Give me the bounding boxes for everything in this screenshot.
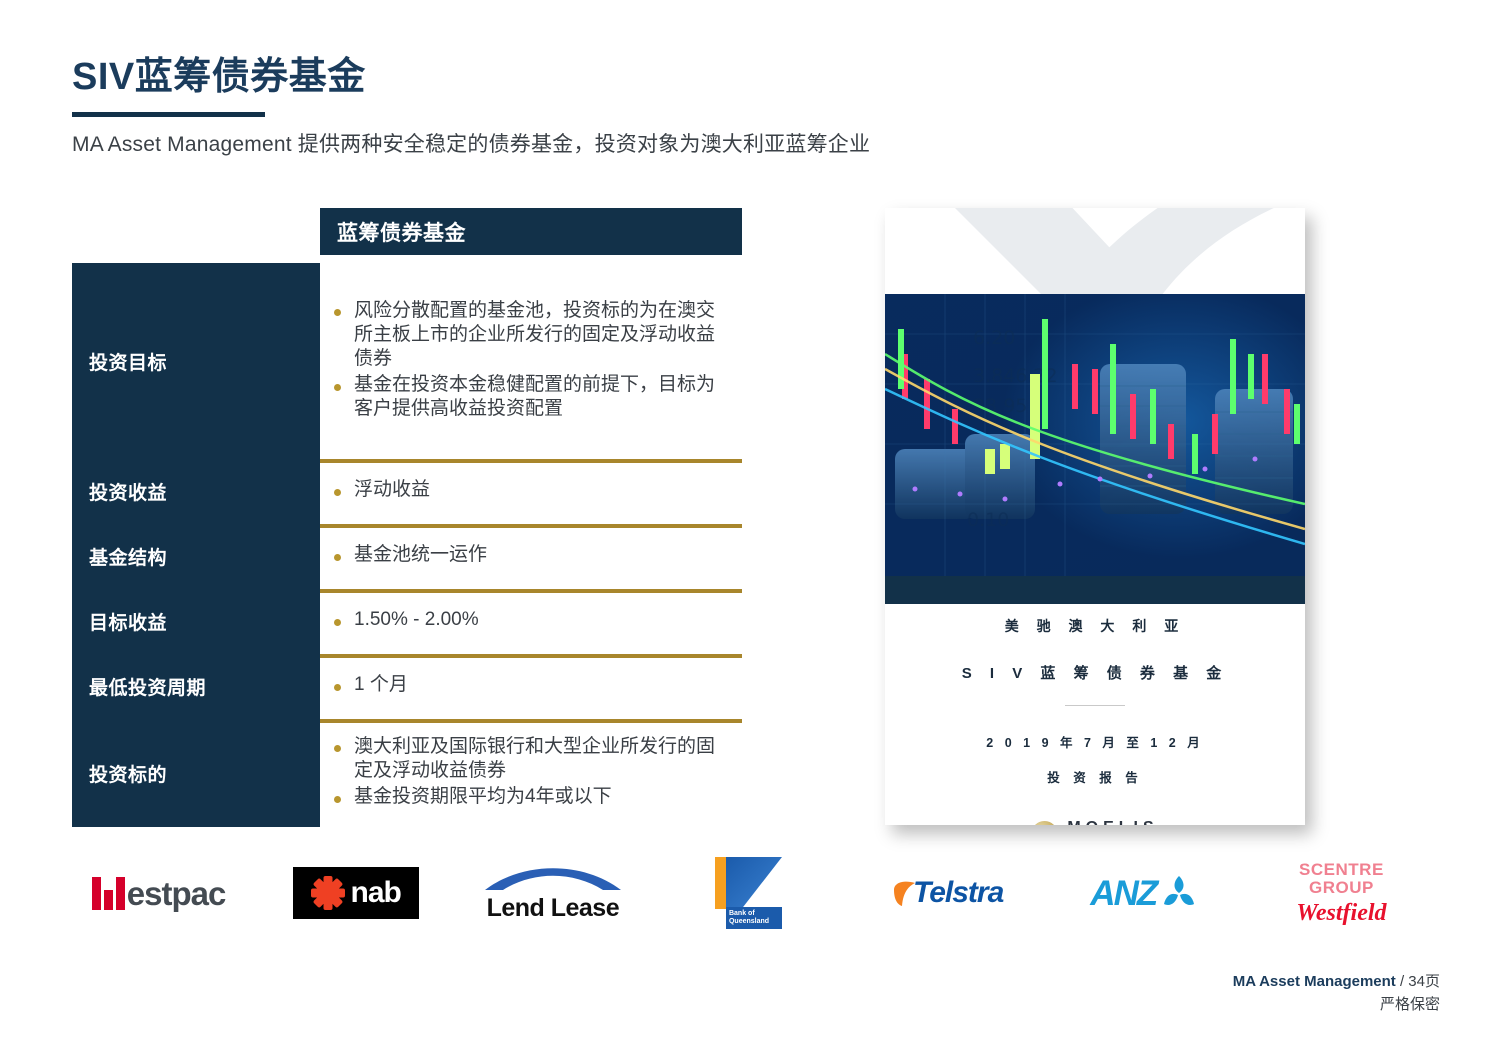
anz-wordmark: ANZ [1090, 876, 1156, 911]
list-item: 1.50% - 2.00% [320, 608, 732, 632]
row-label-investment-return: 投资收益 [72, 459, 320, 524]
table-row: 目标收益 1.50% - 2.00% [72, 589, 742, 654]
row-content-target-return: 1.50% - 2.00% [320, 589, 742, 654]
boq-orange-bar-icon [715, 857, 726, 909]
list-item: 基金在投资本金稳健配置的前提下，目标为客户提供高收益投资配置 [320, 373, 732, 421]
row-content-fund-structure: 基金池统一运作 [320, 524, 742, 589]
row-content-minimum-term: 1 个月 [320, 654, 742, 719]
logo-nab: nab [257, 848, 454, 938]
boq-wordmark: Bank of Queensland [726, 907, 782, 929]
cover-accent-band [885, 576, 1305, 604]
footer-brand-line: MA Asset Management / 34页 [1233, 971, 1440, 994]
page-title: SIV蓝筹债券基金 [72, 58, 366, 98]
lend-lease-wordmark: Lend Lease [487, 894, 620, 922]
row-content-investment-return: 浮动收益 [320, 459, 742, 524]
westpac-wordmark: estpac [127, 877, 226, 910]
table-row: 投资目标 风险分散配置的基金池，投资标的为在澳交所主板上市的企业所发行的固定及浮… [72, 263, 742, 459]
row-label-investment-assets: 投资标的 [72, 719, 320, 827]
telstra-swoosh-icon [891, 878, 917, 908]
fund-comparison-table: 蓝筹债券基金 投资目标 风险分散配置的基金池，投资标的为在澳交所主板上市的企业所… [72, 208, 742, 827]
table-row: 基金结构 基金池统一运作 [72, 524, 742, 589]
svg-text:6.20: 6.20 [973, 327, 1015, 349]
cover-photo-financial-chart: 6.20 3.846.22 23.95 0.10 [885, 294, 1305, 576]
westfield-wordmark: Westfield [1296, 901, 1386, 925]
list-item: 澳大利亚及国际银行和大型企业所发行的固定及浮动收益债券 [320, 735, 732, 783]
partner-logos-row: estpac nab Lend Lea [60, 848, 1440, 938]
row-label-investment-objective: 投资目标 [72, 263, 320, 459]
logo-scentre-group-westfield: SCENTRE GROUP Westfield [1243, 848, 1440, 938]
list-item: 1 个月 [320, 673, 732, 697]
cover-divider [1065, 705, 1125, 706]
cover-doc-type: 投 资 报 告 [885, 767, 1305, 786]
table-row: 投资收益 浮动收益 [72, 459, 742, 524]
row-label-fund-structure: 基金结构 [72, 524, 320, 589]
scentre-line-1: SCENTRE [1296, 861, 1386, 879]
table-column-header: 蓝筹债券基金 [320, 208, 742, 255]
report-cover-preview: 6.20 3.846.22 23.95 0.10 [885, 208, 1305, 825]
cover-watermark-graphic [885, 208, 1305, 294]
svg-text:0.10: 0.10 [967, 509, 1009, 531]
table-row: 投资标的 澳大利亚及国际银行和大型企业所发行的固定及浮动收益债券 基金投资期限平… [72, 719, 742, 827]
cover-company-name: 美 驰 澳 大 利 亚 [885, 616, 1305, 636]
slide-root: SIV蓝筹债券基金 MA Asset Management 提供两种安全稳定的债… [0, 0, 1500, 1038]
list-item: 基金投资期限平均为4年或以下 [320, 785, 732, 809]
footer-confidential: 严格保密 [1233, 994, 1440, 1017]
logo-anz: ANZ [1046, 848, 1243, 938]
footer-brand: MA Asset Management [1233, 973, 1396, 990]
row-label-minimum-term: 最低投资周期 [72, 654, 320, 719]
telstra-wordmark: Telstra [913, 878, 1003, 908]
row-content-investment-assets: 澳大利亚及国际银行和大型企业所发行的固定及浮动收益债券 基金投资期限平均为4年或… [320, 719, 742, 827]
logo-westpac: estpac [60, 848, 257, 938]
logo-lend-lease: Lend Lease [454, 848, 651, 938]
cover-text-block: 美 驰 澳 大 利 亚 S I V 蓝 筹 债 券 基 金 2 0 1 9 年 … [885, 608, 1305, 825]
list-item: 基金池统一运作 [320, 543, 732, 567]
row-content-investment-objective: 风险分散配置的基金池，投资标的为在澳交所主板上市的企业所发行的固定及浮动收益债券… [320, 263, 742, 459]
moelis-brand-name: MOELIS [1067, 820, 1158, 825]
page-subtitle: MA Asset Management 提供两种安全稳定的债券基金，投资对象为澳… [72, 128, 870, 158]
footer-page: / 34页 [1400, 973, 1440, 990]
list-item: 浮动收益 [320, 478, 732, 502]
westpac-w-icon [92, 877, 125, 910]
nab-star-icon [311, 876, 345, 910]
cover-fund-name: S I V 蓝 筹 债 券 基 金 [885, 662, 1305, 683]
logo-telstra: Telstra [849, 848, 1046, 938]
moelis-emblem-icon: SS [1031, 821, 1058, 826]
lend-lease-arc-icon [483, 878, 623, 895]
list-item: 风险分散配置的基金池，投资标的为在澳交所主板上市的企业所发行的固定及浮动收益债券 [320, 299, 732, 371]
row-label-target-return: 目标收益 [72, 589, 320, 654]
cover-period: 2 0 1 9 年 7 月 至 1 2 月 [885, 732, 1305, 751]
logo-bank-of-queensland: Bank of Queensland [651, 848, 848, 938]
scentre-line-2: GROUP [1296, 879, 1386, 897]
footer: MA Asset Management / 34页 严格保密 [1233, 971, 1440, 1016]
table-header-row: 蓝筹债券基金 [72, 208, 742, 263]
table-row: 最低投资周期 1 个月 [72, 654, 742, 719]
anz-lotus-icon [1160, 874, 1198, 912]
nab-wordmark: nab [351, 878, 401, 908]
title-underline [72, 112, 265, 117]
moelis-logo: SS MOELIS AUSTRALIA [885, 820, 1305, 825]
